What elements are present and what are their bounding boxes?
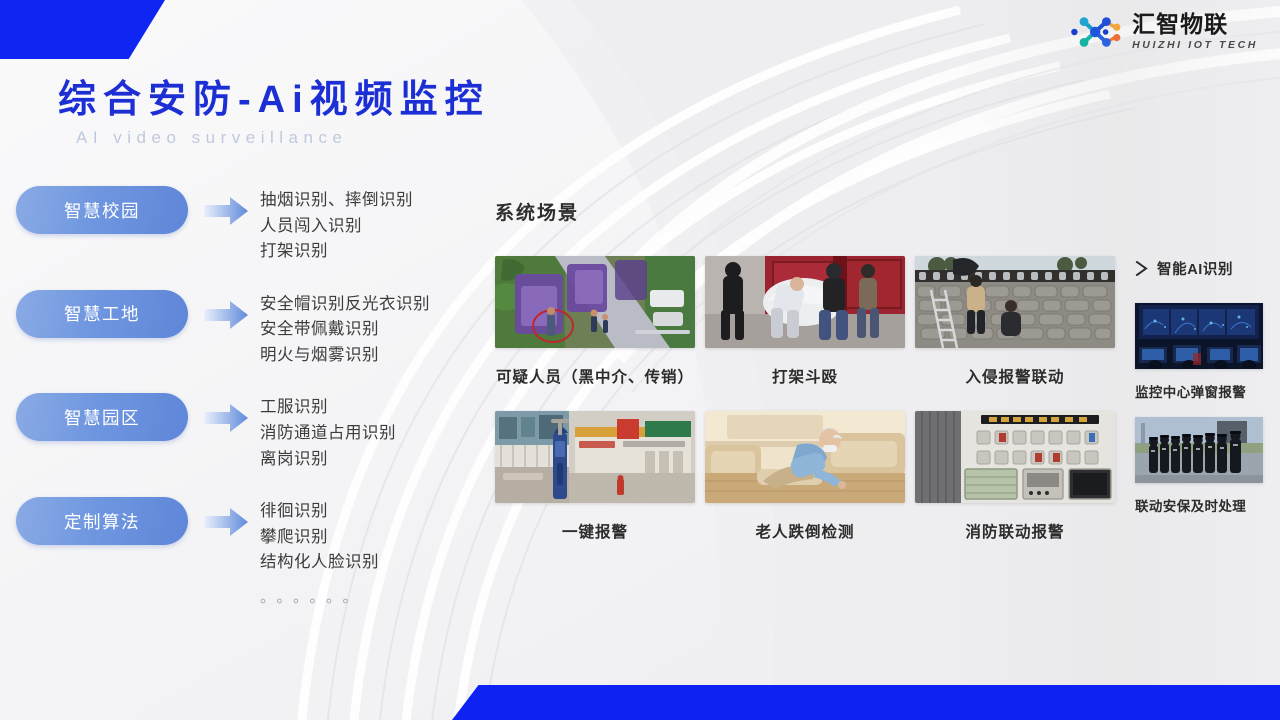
feature-item: 人员闯入识别 [260,214,413,240]
brand-logo: 汇智物联 HUIZHI IOT TECH [1068,12,1258,52]
scene-thumbnail-fire-control-panel [915,411,1115,503]
category-pill-label: 定制算法 [64,509,140,534]
feature-item: 安全带佩戴识别 [260,317,430,343]
category-pill-label: 智慧工地 [64,301,140,326]
feature-item: 攀爬识别 [260,525,379,551]
ai-thumbnail-monitoring-center [1135,303,1263,369]
scene-thumbnail-suspicious-persons [495,256,695,348]
category-pill-smart-campus[interactable]: 智慧校园 [16,186,188,234]
ai-recognition-column: 智能AI识别 [1135,258,1280,531]
scene-thumbnail-street-fight [705,256,905,348]
category-feature-list: 抽烟识别、摔倒识别 人员闯入识别 打架识别 [260,186,413,265]
arrow-right-icon [204,507,248,537]
feature-item: 徘徊识别 [260,499,379,525]
scene-card[interactable]: 老人跌倒检测 [705,411,905,542]
ai-scene-caption: 联动安保及时处理 [1135,495,1280,515]
scene-thumbnail-intrusion-ladder [915,256,1115,348]
category-row: 智慧园区 工服识别 消防通道占用识别 离岗识别 [0,393,470,472]
scene-caption: 消防联动报警 [915,520,1115,542]
category-row: 智慧校园 抽烟识别、摔倒识别 人员闯入识别 打架识别 [0,186,470,265]
feature-item: 打架识别 [260,239,413,265]
scene-caption: 可疑人员（黑中介、传销） [495,365,695,387]
page-subtitle: AI video surveillance [76,128,347,148]
bottom-accent-bar [452,685,1280,720]
scene-thumbnail-one-key-alarm [495,411,695,503]
ai-scene-card[interactable]: 联动安保及时处理 [1135,417,1280,515]
arrow-right-icon [204,196,248,226]
scene-caption: 老人跌倒检测 [705,520,905,542]
ai-scene-caption: 监控中心弹窗报警 [1135,381,1280,401]
ai-scene-card[interactable]: 监控中心弹窗报警 [1135,303,1280,401]
arrow-right-icon [204,300,248,330]
category-feature-list: 安全帽识别反光衣识别 安全带佩戴识别 明火与烟雾识别 [260,290,430,369]
ellipsis-dots: 。。。。。。 [260,586,379,607]
scenes-panel: 系统场景 [495,198,1115,542]
feature-item: 抽烟识别、摔倒识别 [260,188,413,214]
feature-item: 结构化人脸识别 [260,550,379,576]
scenes-title: 系统场景 [495,198,1115,225]
category-pill-label: 智慧校园 [64,198,140,223]
scene-card[interactable]: 可疑人员（黑中介、传销） [495,256,695,387]
category-pill-custom-algorithm[interactable]: 定制算法 [16,497,188,545]
category-feature-group: 徘徊识别 攀爬识别 结构化人脸识别 。。。。。。 [248,497,379,607]
category-row: 定制算法 徘徊识别 攀爬识别 结构化人脸识别 。。。。。。 [0,497,470,607]
category-feature-list: 徘徊识别 攀爬识别 结构化人脸识别 [260,497,379,576]
page-title: 综合安防-Ai视频监控 [58,68,490,123]
feature-item: 离岗识别 [260,447,396,473]
feature-item: 明火与烟雾识别 [260,343,430,369]
logo-company-name-cn: 汇智物联 [1132,13,1258,36]
scene-thumbnail-elderly-fall [705,411,905,503]
scenes-grid-row-1: 可疑人员（黑中介、传销） [495,256,1115,387]
category-feature-list: 工服识别 消防通道占用识别 离岗识别 [260,393,396,472]
category-row: 智慧工地 安全帽识别反光衣识别 安全带佩戴识别 明火与烟雾识别 [0,290,470,369]
molecule-network-icon [1068,12,1124,52]
ai-thumbnail-security-guards [1135,417,1263,483]
category-pill-smart-park[interactable]: 智慧园区 [16,393,188,441]
category-pill-smart-site[interactable]: 智慧工地 [16,290,188,338]
scene-card[interactable]: 入侵报警联动 [915,256,1115,387]
scenes-grid-row-2: 一键报警 [495,411,1115,542]
feature-item: 安全帽识别反光衣识别 [260,292,430,318]
category-list: 智慧校园 抽烟识别、摔倒识别 人员闯入识别 打架识别 智慧工地 安全帽识别反光衣… [0,186,470,607]
feature-item: 工服识别 [260,395,396,421]
scene-caption: 打架斗殴 [705,365,905,387]
ai-recognition-label: 智能AI识别 [1157,258,1233,279]
logo-company-name-en: HUIZHI IOT TECH [1132,40,1258,51]
feature-item: 消防通道占用识别 [260,421,396,447]
ai-recognition-header: 智能AI识别 [1135,258,1280,279]
scene-caption: 一键报警 [495,520,695,542]
scene-card[interactable]: 消防联动报警 [915,411,1115,542]
scene-card[interactable]: 打架斗殴 [705,256,905,387]
scene-card[interactable]: 一键报警 [495,411,695,542]
chevron-right-icon [1135,261,1148,276]
scene-caption: 入侵报警联动 [915,365,1115,387]
category-pill-label: 智慧园区 [64,405,140,430]
arrow-right-icon [204,403,248,433]
